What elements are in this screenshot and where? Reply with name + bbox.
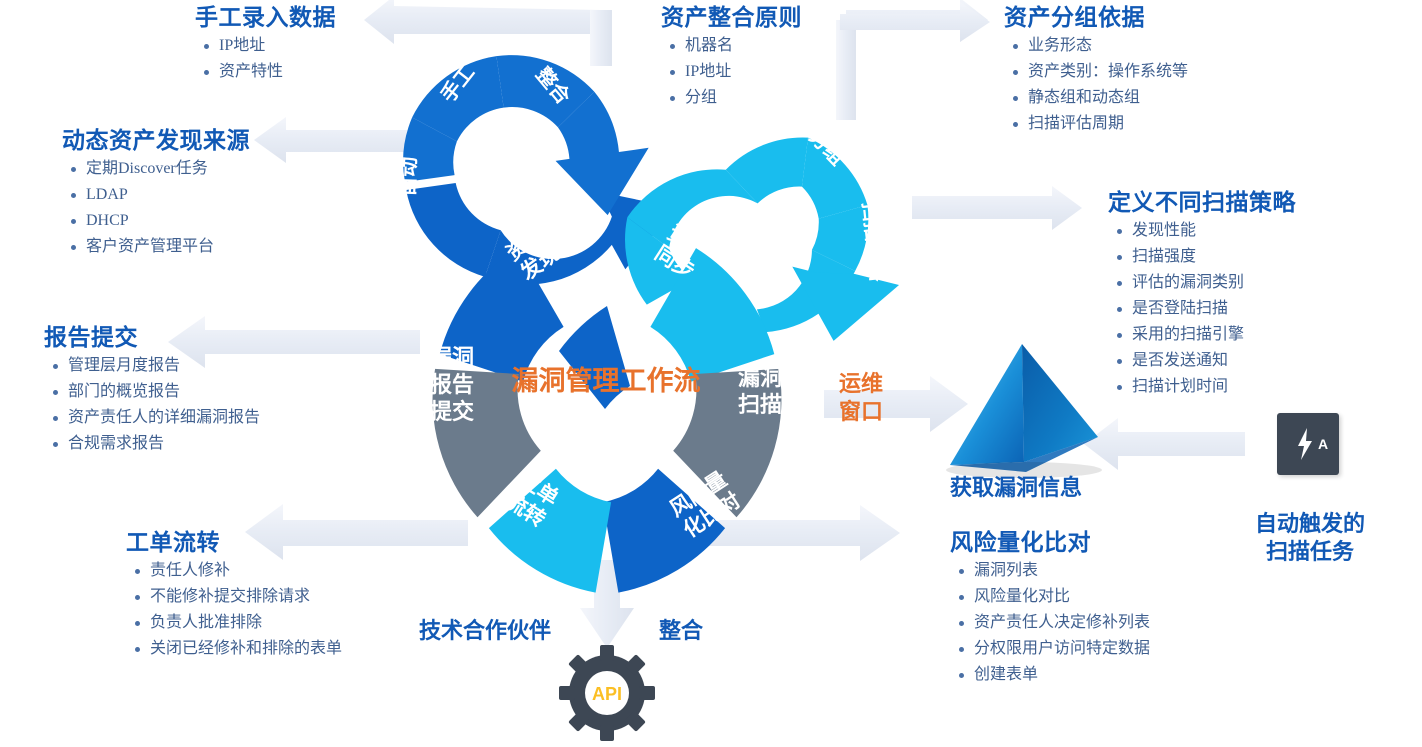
api-gear-icon: API [559, 645, 655, 741]
list-item: 分权限用户访问特定数据 [956, 639, 1150, 659]
list-item: 管理层月度报告 [50, 356, 260, 376]
arrow-to-scan-strategy [912, 186, 1082, 230]
list-item: 部门的概览报告 [50, 382, 260, 402]
list-item: 业务形态 [1010, 36, 1188, 56]
block-manual-entry: 手工录入数据 IP地址 资产特性 [195, 5, 336, 88]
list-item: 资产责任人决定修补列表 [956, 613, 1150, 633]
block-heading: 风险量化比对 [950, 530, 1150, 555]
list-item: IP地址 [201, 36, 336, 56]
list-item: 资产类别：操作系统等 [1010, 62, 1188, 82]
spiral-label-scan-policy: 扫描策略 [858, 200, 890, 283]
lightning-a-icon: A [1277, 413, 1339, 475]
ring-label-vuln-report: 漏洞报告提交 [430, 345, 474, 424]
list-item: 创建表单 [956, 665, 1150, 685]
arrow-integration-to-grouping [840, 2, 990, 42]
block-heading: 动态资产发现来源 [62, 128, 250, 153]
auto-trigger-line1: 自动触发的 [1251, 510, 1369, 538]
auto-trigger-icon: A [1277, 413, 1339, 475]
list-item: LDAP [68, 185, 250, 205]
pyramid-shape [946, 344, 1102, 478]
list-item: 关闭已经修补和排除的表单 [132, 639, 342, 659]
list-item: 资产特性 [201, 62, 336, 82]
arrow-to-dynamic-discovery [254, 117, 420, 163]
list-item: 静态组和动态组 [1010, 88, 1188, 108]
block-heading: 定义不同扫描策略 [1108, 190, 1296, 215]
label-tech-partner: 技术合作伙伴 [419, 617, 551, 645]
block-heading: 手工录入数据 [195, 5, 336, 30]
list-item: 采用的扫描引擎 [1114, 325, 1296, 345]
block-list: 漏洞列表 风险量化对比 资产责任人决定修补列表 分权限用户访问特定数据 创建表单 [956, 561, 1150, 685]
block-list: IP地址 资产特性 [201, 36, 336, 82]
label-get-vuln-info: 获取漏洞信息 [950, 474, 1082, 502]
block-list: 发现性能 扫描强度 评估的漏洞类别 是否登陆扫描 采用的扫描引擎 是否发送通知 … [1114, 221, 1296, 397]
list-item: 是否登陆扫描 [1114, 299, 1296, 319]
block-asset-integration: 资产整合原则 机器名 IP地址 分组 [661, 5, 802, 114]
list-item: 扫描计划时间 [1114, 377, 1296, 397]
block-list: 业务形态 资产类别：操作系统等 静态组和动态组 扫描评估周期 [1010, 36, 1188, 134]
list-item: 扫描强度 [1114, 247, 1296, 267]
label-maintenance-window: 运维 窗口 [831, 370, 891, 425]
block-list: 定期Discover任务 LDAP DHCP 客户资产管理平台 [68, 159, 250, 257]
block-heading: 资产整合原则 [661, 5, 802, 30]
block-asset-grouping: 资产分组依据 业务形态 资产类别：操作系统等 静态组和动态组 扫描评估周期 [1004, 5, 1188, 140]
list-item: 扫描评估周期 [1010, 114, 1188, 134]
block-report-submit: 报告提交 管理层月度报告 部门的概览报告 资产责任人的详细漏洞报告 合规需求报告 [44, 325, 260, 460]
list-item: IP地址 [667, 62, 802, 82]
api-gear-label: API [592, 684, 622, 704]
list-item: 责任人修补 [132, 561, 342, 581]
block-list: 责任人修补 不能修补提交排除请求 负责人批准排除 关闭已经修补和排除的表单 [132, 561, 342, 659]
list-item: 定期Discover任务 [68, 159, 250, 179]
block-risk-quant: 风险量化比对 漏洞列表 风险量化对比 资产责任人决定修补列表 分权限用户访问特定… [950, 530, 1150, 691]
list-item: 是否发送通知 [1114, 351, 1296, 371]
maintenance-window-line1: 运维 [831, 370, 891, 398]
block-heading: 报告提交 [44, 325, 260, 350]
block-heading: 工单流转 [126, 530, 342, 555]
center-title: 漏洞管理工作流 [512, 366, 701, 396]
block-ticket-flow: 工单流转 责任人修补 不能修补提交排除请求 负责人批准排除 关闭已经修补和排除的… [126, 530, 342, 665]
spiral-label-auto: 自动 [395, 156, 420, 197]
list-item: 资产责任人的详细漏洞报告 [50, 408, 260, 428]
block-scan-strategy: 定义不同扫描策略 发现性能 扫描强度 评估的漏洞类别 是否登陆扫描 采用的扫描引… [1108, 190, 1296, 403]
block-list: 管理层月度报告 部门的概览报告 资产责任人的详细漏洞报告 合规需求报告 [50, 356, 260, 454]
list-item: 分组 [667, 88, 802, 108]
block-dynamic-discovery: 动态资产发现来源 定期Discover任务 LDAP DHCP 客户资产管理平台 [62, 128, 250, 263]
list-item: 发现性能 [1114, 221, 1296, 241]
list-item: 评估的漏洞类别 [1114, 273, 1296, 293]
list-item: 机器名 [667, 36, 802, 56]
maintenance-window-line2: 窗口 [831, 398, 891, 426]
list-item: 漏洞列表 [956, 561, 1150, 581]
block-list: 机器名 IP地址 分组 [667, 36, 802, 108]
label-auto-trigger: 自动触发的 扫描任务 [1251, 510, 1369, 565]
arrow-trigger-to-pyramid [1084, 418, 1245, 470]
list-item: DHCP [68, 211, 250, 231]
svg-text:A: A [1318, 436, 1328, 452]
list-item: 负责人批准排除 [132, 613, 342, 633]
list-item: 合规需求报告 [50, 434, 260, 454]
list-item: 客户资产管理平台 [68, 237, 250, 257]
list-item: 风险量化对比 [956, 587, 1150, 607]
diagram-canvas: 资产发现 资产同步 漏洞扫描 风险量化比对 工单流转 漏洞报告提交 手工 自动 … [0, 0, 1422, 747]
label-integration: 整合 [659, 617, 703, 645]
block-heading: 资产分组依据 [1004, 5, 1188, 30]
auto-trigger-line2: 扫描任务 [1251, 538, 1369, 566]
list-item: 不能修补提交排除请求 [132, 587, 342, 607]
arrow-to-manual-entry [364, 0, 612, 66]
